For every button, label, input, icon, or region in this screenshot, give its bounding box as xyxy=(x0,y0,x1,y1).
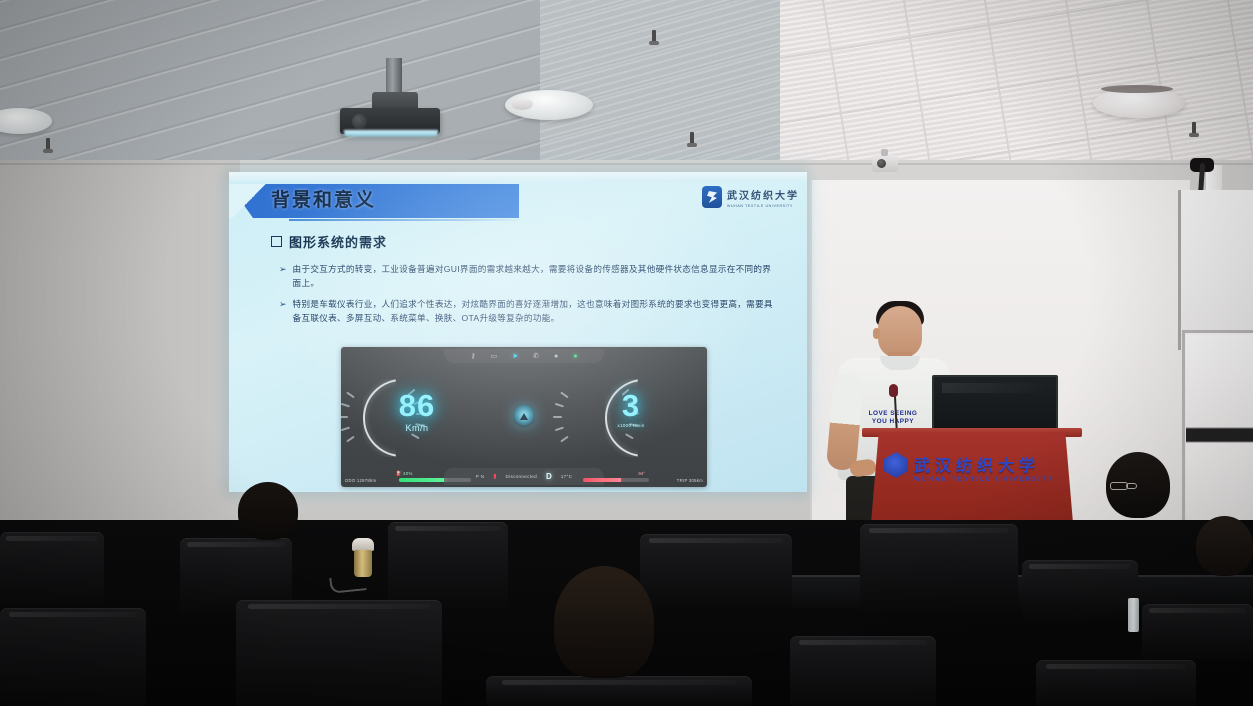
presentation-room-scene: 背景和意义 武汉纺织大学 WUHAN TEXTILE UNIVERSITY 图形… xyxy=(0,0,1253,706)
seat xyxy=(0,532,104,610)
outside-temperature: 17°C xyxy=(561,474,572,479)
arrow-bullet-icon: ➢ xyxy=(279,262,287,290)
slide-title-underline xyxy=(289,219,524,221)
gauge-tick xyxy=(411,433,420,439)
shirt-text-line-2: YOU HAPPY xyxy=(864,418,922,426)
gauge-tick xyxy=(346,436,355,443)
gauge-tick xyxy=(346,392,355,399)
slide-section-heading: 图形系统的需求 xyxy=(271,232,387,251)
key-icon: ⚷ xyxy=(471,353,476,360)
warning-triangle-icon: ▮ xyxy=(493,473,496,480)
rpm-readout: 3 x1000 r/min xyxy=(571,389,691,428)
gauge-tick xyxy=(560,436,569,443)
projector-mount-pole xyxy=(386,58,402,96)
presenter-head xyxy=(878,306,922,358)
university-logo: 武汉纺织大学 WUHAN TEXTILE UNIVERSITY xyxy=(702,186,799,208)
dashboard-bottom-bar: ODO 12978km ⛽ 40% 94° TRIP 305km P N ▮ D… xyxy=(341,465,707,487)
door-icon: ▭ xyxy=(491,353,498,360)
seat xyxy=(790,636,936,706)
smoke-detector-icon xyxy=(511,98,533,110)
gauge-tick xyxy=(625,433,634,439)
fuel-level-label: 40% xyxy=(403,471,413,476)
rpm-value: 3 xyxy=(571,389,691,423)
dashboard-center-pill: P N ▮ Disconnected D 17°C xyxy=(444,468,604,485)
seat xyxy=(1142,604,1253,660)
seat xyxy=(486,676,752,706)
podium-university-name-cn: 武汉纺织大学 xyxy=(914,452,1040,476)
gear-position-indicator: P N xyxy=(476,474,484,479)
seat xyxy=(388,522,508,608)
green-dot-icon: ● xyxy=(573,353,577,360)
cup-body xyxy=(354,550,372,577)
dome-light-right-icon xyxy=(1093,88,1185,118)
audience-head xyxy=(238,482,298,540)
gauge-tick xyxy=(341,427,350,432)
security-camera-icon xyxy=(872,155,898,172)
wall-whiteboard xyxy=(1178,190,1253,350)
paper-cup xyxy=(352,538,374,578)
university-logo-cn: 武汉纺织大学 xyxy=(727,191,799,202)
sprinkler-icon xyxy=(46,138,50,151)
wall-air-conditioner xyxy=(1186,335,1253,535)
odometer-value: ODO 12978km xyxy=(345,478,376,483)
gauge-tick xyxy=(555,403,564,408)
bullet-text: 特别是车载仪表行业，人们追求个性表达，对炫酷界面的喜好逐渐增加，这也意味着对图形… xyxy=(293,297,779,325)
slide-bullet-list: ➢ 由于交互方式的转变，工业设备普遍对GUI界面的需求越来越大，需要将设备的传感… xyxy=(279,262,779,332)
projected-slide: 背景和意义 武汉纺织大学 WUHAN TEXTILE UNIVERSITY 图形… xyxy=(229,172,807,492)
microphone-icon xyxy=(889,384,898,397)
car-dashboard-image: ⚷ ▭ ➤ ✆ ● ● xyxy=(341,347,707,487)
trip-value: TRIP 305km xyxy=(677,478,703,483)
audience-head xyxy=(1196,516,1253,576)
dot-icon: ● xyxy=(554,353,558,360)
projector-light-glow xyxy=(344,130,438,138)
presenter-shirt-text: LOVE SEEING YOU HAPPY xyxy=(864,410,922,426)
slide-top-strip xyxy=(229,172,807,182)
engine-indicator-icon xyxy=(513,405,535,427)
university-emblem-icon xyxy=(702,186,722,208)
tachometer-gauge: 3 x1000 r/min xyxy=(571,369,691,465)
ceiling-tile-grid xyxy=(780,0,1253,178)
seat xyxy=(640,534,792,610)
navigation-arrow-icon: ➤ xyxy=(512,353,518,360)
podium-university-name-en: WUHAN TEXTILE UNIVERSITY xyxy=(914,476,1054,483)
square-bullet-icon xyxy=(271,236,282,247)
projector-lens-icon xyxy=(352,114,367,129)
section-heading-text: 图形系统的需求 xyxy=(289,232,387,251)
speed-readout: 86 Km/h xyxy=(357,389,477,433)
seat xyxy=(860,524,1018,612)
speedometer-gauge: 86 Km/h xyxy=(357,369,477,465)
shirt-text-line-1: LOVE SEEING xyxy=(864,410,922,418)
seat xyxy=(0,608,146,706)
gauge-tick xyxy=(341,416,348,418)
slide-title: 背景和意义 xyxy=(271,186,521,216)
seat xyxy=(1036,660,1196,706)
gear-badge: D xyxy=(546,472,552,481)
university-logo-en: WUHAN TEXTILE UNIVERSITY xyxy=(727,204,799,208)
water-bottle xyxy=(1128,598,1139,632)
gauge-tick xyxy=(555,427,564,432)
sprinkler-icon xyxy=(1192,122,1196,135)
sprinkler-icon xyxy=(652,30,656,43)
coolant-temp-label: 94° xyxy=(638,471,645,476)
dashboard-status-bar: ⚷ ▭ ➤ ✆ ● ● xyxy=(444,349,604,363)
fuel-pump-icon: ⛽ xyxy=(396,471,402,477)
audience-head xyxy=(554,566,654,678)
sprinkler-icon xyxy=(690,132,694,145)
rpm-unit: x1000 r/min xyxy=(571,423,691,428)
slide-banner-notch xyxy=(229,184,269,218)
presenter-ear xyxy=(873,328,880,339)
speed-value: 86 xyxy=(357,389,477,423)
seat xyxy=(1022,560,1138,620)
ceiling xyxy=(0,0,1253,178)
list-item: ➢ 特别是车载仪表行业，人们追求个性表达，对炫酷界面的喜好逐渐增加，这也意味着对… xyxy=(279,297,779,325)
connection-status: Disconnected xyxy=(506,474,537,479)
bullet-text: 由于交互方式的转变，工业设备普遍对GUI界面的需求越来越大，需要将设备的传感器及… xyxy=(293,262,779,290)
gauge-tick xyxy=(341,403,350,408)
gauge-tick xyxy=(553,416,562,418)
gauge-tick xyxy=(560,392,569,399)
speed-unit: Km/h xyxy=(357,423,477,433)
seat xyxy=(236,600,442,706)
phone-icon: ✆ xyxy=(533,353,539,360)
ceiling-wall-joint xyxy=(0,163,1253,165)
eyeglasses-icon xyxy=(1110,482,1128,490)
list-item: ➢ 由于交互方式的转变，工业设备普遍对GUI界面的需求越来越大，需要将设备的传感… xyxy=(279,262,779,290)
arrow-bullet-icon: ➢ xyxy=(279,297,287,325)
